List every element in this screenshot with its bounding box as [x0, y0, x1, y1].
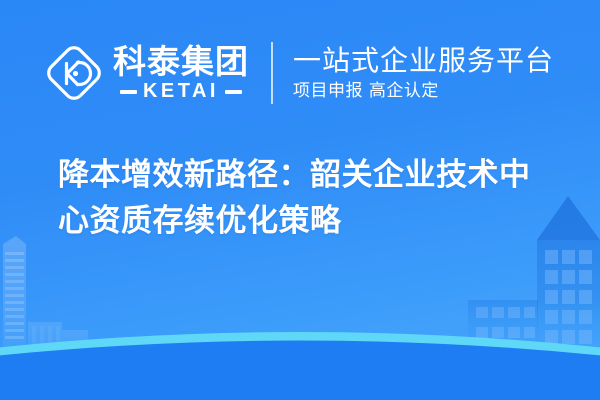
bottom-arc-fill: [0, 341, 600, 400]
brand-tagline-divider: [271, 42, 273, 104]
left-tall-skyscraper: [3, 236, 26, 352]
brand-name-en-row: KETAI: [120, 81, 242, 102]
brand-name-en: KETAI: [143, 81, 219, 102]
dash-right-icon: [225, 90, 242, 94]
brand-name-cn: 科泰集团: [113, 45, 249, 79]
brand-lockup: 科泰集团 KETAI: [46, 44, 249, 102]
tagline-block: 一站式企业服务平台 项目申报 高企认定: [293, 44, 554, 103]
article-title-wrap: 降本增效新路径：韶关企业技术中心资质存续优化策略: [58, 152, 558, 244]
promo-banner: 科泰集团 KETAI 一站式企业服务平台 项目申报 高企认定 降本增效新路径：韶…: [0, 0, 600, 400]
banner-header: 科泰集团 KETAI 一站式企业服务平台 项目申报 高企认定: [0, 36, 600, 110]
right-mid-block: [468, 300, 538, 352]
tagline-main: 一站式企业服务平台: [293, 44, 554, 77]
brand-name-block: 科泰集团 KETAI: [113, 45, 249, 102]
dash-left-icon: [120, 90, 137, 94]
ketai-diamond-kd-monogram-icon: [46, 45, 102, 101]
tagline-sub: 项目申报 高企认定: [293, 79, 554, 103]
article-title: 降本增效新路径：韶关企业技术中心资质存续优化策略: [58, 152, 558, 244]
bottom-arc-highlight: [0, 332, 600, 400]
left-low-block: [28, 322, 88, 352]
